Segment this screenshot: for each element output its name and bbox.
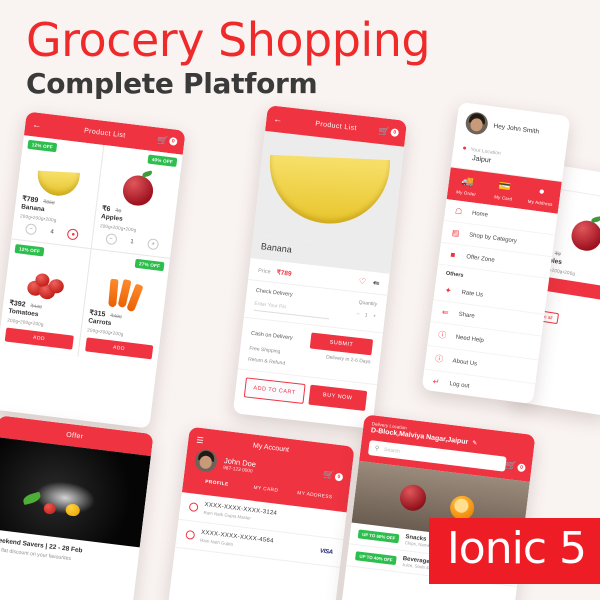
map-pin-icon: ● [462,145,467,152]
cart-button[interactable]: 🛒 0 [157,134,178,147]
cart-icon: 🛒 [157,134,169,146]
menu-greeting: Hey John Smith [493,122,539,135]
phone-product-detail: ← Product List 🛒 0 Banana Price ₹789 ♡ ⇚… [233,105,407,429]
share-icon[interactable]: ⇚ [372,278,380,288]
phone-product-list: ← Product List 🛒 0 12% OFF ₹789 ₹868 Ban… [0,111,186,428]
radio-icon[interactable] [185,530,195,540]
menu-item-label: Need Help [455,334,484,344]
offer-hero-image [0,437,151,547]
qty-plus[interactable]: + [373,313,377,319]
quick-tab-my-order[interactable]: 🚚 My Order [447,167,488,204]
menu-item-label: About Us [452,358,477,367]
pencil-icon[interactable]: ✎ [472,439,478,447]
tab-my-card[interactable]: MY CARD [241,484,291,495]
qty-minus-button[interactable]: − [105,233,117,245]
qty-minus[interactable]: − [356,311,360,317]
pin-input[interactable]: Enter Your Pin [254,297,331,319]
framework-badge: Ionic 5 [429,518,600,584]
delivery-note: Delivery in 2-6 Days [326,354,371,365]
qty-plus-button[interactable]: + [147,238,159,250]
avatar [194,449,219,474]
star-icon: ✦ [443,286,453,296]
cod-label: Cash on Delivery [251,331,293,342]
detail-hero-image [253,131,404,250]
share-icon: ⇚ [440,307,450,317]
menu-item-label: Log out [449,381,470,390]
grid-icon: ▤ [451,228,461,238]
quick-tab-label: My Address [521,198,559,208]
tab-profile[interactable]: PROFILE [192,478,242,489]
add-button[interactable]: ADD [5,327,74,349]
menu-item-label: Share [458,311,475,319]
offer-header-title: Offer [66,431,84,440]
quantity-stepper[interactable]: − 1 + [356,311,376,319]
cart-icon: 🛒 [505,460,517,472]
qty-value: 1 [130,238,134,244]
buy-now-button[interactable]: BUY NOW [308,385,367,411]
product-grid: 12% OFF ₹789 ₹868 Banana 200g•200g•200g … [0,135,183,366]
radio-icon[interactable] [189,502,199,512]
cart-icon: 🛒 [322,469,334,481]
shipping-label: Free Shipping [249,346,281,355]
price-label: Price [258,268,271,275]
quick-tab-label: My Card [484,193,522,203]
product-card-apples[interactable]: 40% OFF ₹6 ₹9 Apples 200g•200g•200g − 1 … [91,145,183,258]
price-value: ₹789 [276,268,292,278]
product-card-carrots[interactable]: 27% OFF ₹315 ₹400 Carrots 200g•200g•200g… [78,249,170,366]
menu-item-label: Shop by Category [469,232,517,244]
cart-count: 0 [169,137,178,146]
question-icon: ⓘ [437,329,447,341]
search-icon: ⚲ [374,445,379,452]
cart-button[interactable]: 🛒 0 [505,460,526,473]
poster-stage: Grocery Shopping Complete Platform See a… [0,0,600,600]
page-subtitle: Complete Platform [26,68,430,100]
hamburger-icon[interactable]: ☰ [196,435,204,445]
cart-count: 0 [390,128,399,137]
avatar [464,111,489,136]
banana-image [23,148,95,200]
menu-item-label: Offer Zone [466,254,495,264]
quick-tab-my-address[interactable]: ● My Address [521,177,562,214]
home-icon: ☖ [454,206,464,216]
heart-outline-icon[interactable]: ♡ [358,277,366,287]
phone-offer: Offer Weekend Savers | 22 - 28 Feb Get f… [0,415,154,600]
heart-icon[interactable]: ● [67,228,79,240]
credit-card-icon: 💳 [485,179,523,195]
qty-minus-button[interactable]: − [25,223,37,235]
arrow-left-icon[interactable]: ← [32,120,42,130]
product-mrp: ₹9 [554,251,561,258]
cart-button[interactable]: 🛒 0 [322,469,343,482]
product-mrp: ₹9 [115,208,122,215]
search-placeholder: Search [384,446,400,454]
qty-value: 1 [364,312,367,318]
category-badge: UP TO 40% OFF [355,551,397,565]
menu-item-label: Home [472,210,489,218]
cart-button[interactable]: 🛒 0 [378,125,399,138]
visa-logo: VISA [320,548,333,556]
arrow-left-icon[interactable]: ← [273,114,283,124]
quick-tab-my-card[interactable]: 💳 My Card [484,172,525,209]
detail-header-title: Product List [315,120,357,132]
product-price: ₹6 [102,204,111,213]
page-title: Grocery Shopping [26,14,430,66]
phone-account: ☰ My Account 🛒 0 John Doe 987-123 0000 P… [167,427,354,600]
cart-count: 0 [335,472,344,481]
logout-icon: ↵ [431,377,441,387]
product-card-banana[interactable]: 12% OFF ₹789 ₹868 Banana 200g•200g•200g … [11,135,103,248]
add-to-cart-button[interactable]: ADD TO CART [244,377,305,404]
menu-item-label: Rate Us [461,289,483,298]
tab-my-address[interactable]: MY ADDRESS [290,490,340,501]
category-badge: UP TO 60% OFF [358,529,400,543]
quick-tab-label: My Order [447,188,485,198]
qty-value: 4 [50,229,54,235]
info-icon: ⓘ [434,353,444,365]
submit-button[interactable]: SUBMIT [310,332,373,355]
add-button[interactable]: ADD [85,337,154,359]
map-pin-icon: ● [522,184,560,200]
tag-icon: ■ [448,250,458,260]
truck-icon: 🚚 [448,174,486,190]
cart-icon: 🛒 [378,125,390,137]
poster-headline: Grocery Shopping Complete Platform [26,14,430,100]
tomato-image [10,252,82,304]
list-header-title: Product List [84,127,126,139]
cart-count: 0 [517,463,526,472]
product-card-tomatoes[interactable]: 12% OFF ₹392 ₹440 Tomatoes 200g•200g•200… [0,239,90,356]
